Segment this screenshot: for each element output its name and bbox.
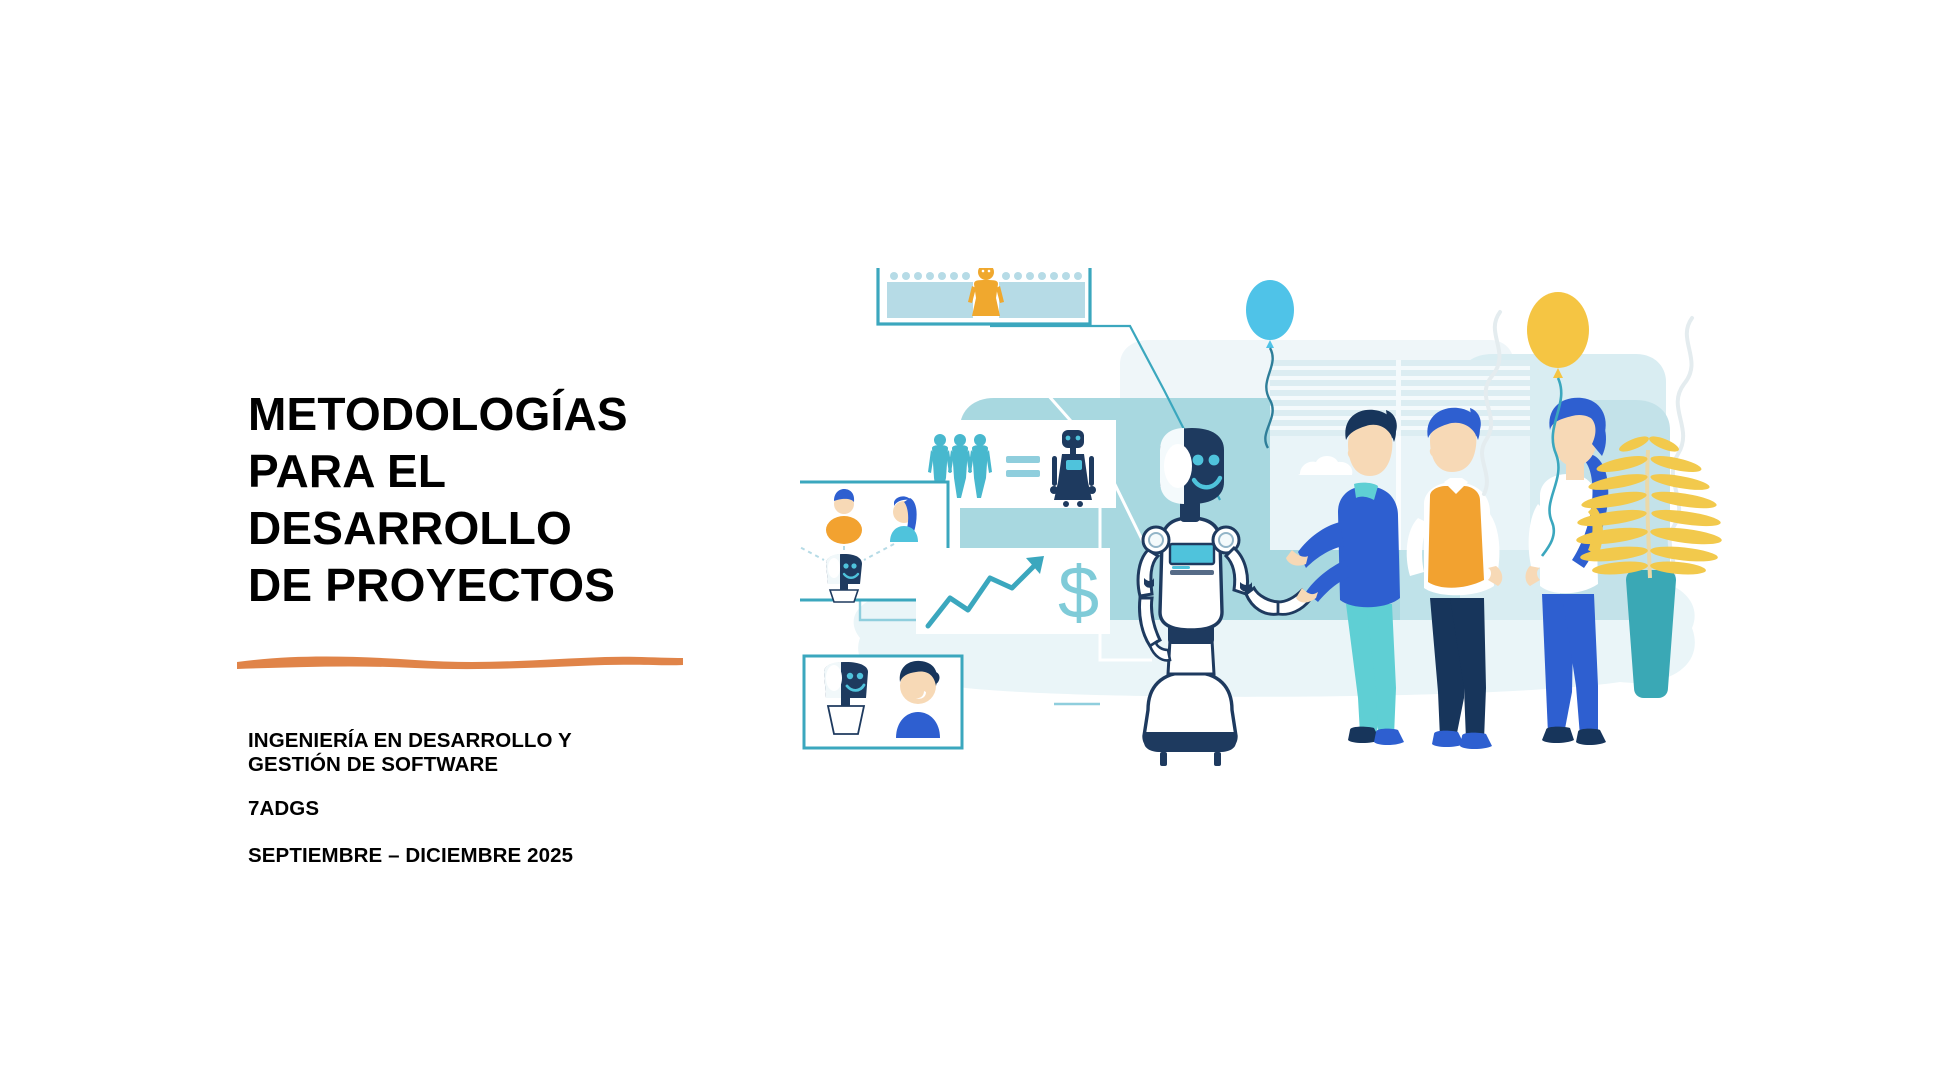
ai-robot-teamwork-illustration: $ bbox=[800, 268, 1800, 788]
program-name: INGENIERÍA EN DESARROLLO Y GESTIÓN DE SO… bbox=[248, 729, 808, 777]
group-code: 7ADGS bbox=[248, 797, 808, 821]
page-title: METODOLOGÍAS PARA EL DESARROLLO DE PROYE… bbox=[248, 386, 768, 614]
dollar-sign: $ bbox=[1058, 551, 1099, 634]
title-block: METODOLOGÍAS PARA EL DESARROLLO DE PROYE… bbox=[248, 386, 768, 614]
crowd-panel bbox=[878, 268, 1090, 324]
robot-head-icon bbox=[826, 554, 862, 602]
subtitle-block: INGENIERÍA EN DESARROLLO Y GESTIÓN DE SO… bbox=[248, 729, 808, 868]
growth-chart: $ bbox=[916, 548, 1110, 634]
accent-underline bbox=[235, 650, 685, 672]
robot-human-panel bbox=[804, 656, 962, 748]
presentation-slide: METODOLOGÍAS PARA EL DESARROLLO DE PROYE… bbox=[0, 0, 1938, 1088]
term-period: SEPTIEMBRE – DICIEMBRE 2025 bbox=[248, 844, 808, 868]
